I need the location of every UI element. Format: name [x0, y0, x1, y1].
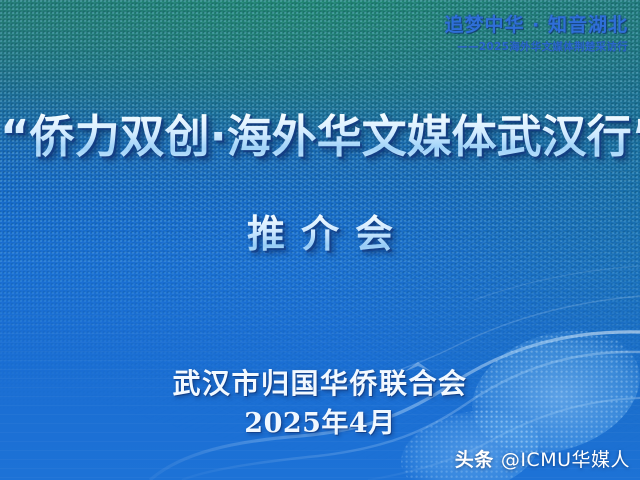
organizer-name: 武汉市归国华侨联合会	[0, 362, 640, 402]
header-campaign-title: 追梦中华 · 知音湖北	[445, 16, 628, 35]
slide-title-line2: 推介会	[0, 203, 640, 258]
watermark-brand: 头条	[455, 449, 494, 471]
slide-title-line1: “侨力双创·海外华文媒体武汉行”	[0, 100, 640, 165]
header-campaign-subtitle: ——2025海外华文媒体荆楚采访行	[445, 42, 628, 53]
watermark-handle: @ICMU华媒人	[501, 449, 630, 471]
event-date: 2025年4月	[0, 401, 640, 440]
presentation-slide: 追梦中华 · 知音湖北 ——2025海外华文媒体荆楚采访行 “侨力双创·海外华文…	[0, 0, 640, 480]
header-lockup: 追梦中华 · 知音湖北 ——2025海外华文媒体荆楚采访行	[445, 16, 628, 53]
watermark: 头条 @ICMU华媒人	[455, 445, 630, 472]
